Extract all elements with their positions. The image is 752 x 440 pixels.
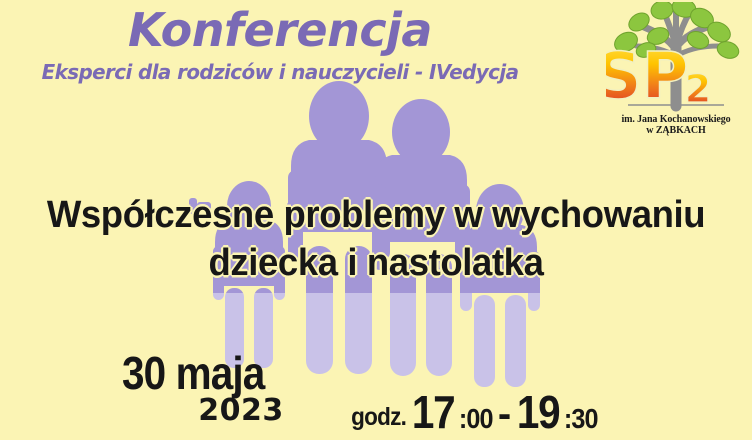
event-time-end-hour: 19 (517, 385, 559, 439)
event-date-year: 2023 (122, 394, 284, 426)
conference-poster: Konferencja Eksperci dla rodziców i nauc… (0, 0, 752, 440)
page-subtitle: Eksperci dla rodziców i nauczycieli - IV… (8, 54, 551, 84)
page-title: Konferencja (0, 0, 560, 54)
event-time-separator: - (495, 392, 514, 437)
school-logo-mark: SP 2 (606, 2, 746, 114)
school-logo: SP 2 im. Jana Kochanowskiego w ZĄBKACH (606, 2, 746, 144)
event-date: 30 maja 2023 (122, 352, 284, 426)
event-time-label: godz. (351, 403, 406, 432)
headline-line-1: Współczesne problemy w wychowaniu (15, 192, 737, 240)
event-time: godz.17:00-19:30 (348, 385, 600, 439)
logo-school-town: w ZĄBKACH (606, 125, 746, 136)
event-date-day-month: 30 maja (122, 352, 264, 394)
heading-block: Konferencja Eksperci dla rodziców i nauc… (0, 0, 560, 84)
main-headline: Współczesne problemy w wychowaniu dzieck… (0, 192, 752, 287)
logo-school-name: im. Jana Kochanowskiego (606, 114, 746, 125)
headline-line-2: dziecka i nastolatka (15, 240, 737, 288)
logo-monogram-sp: SP (606, 40, 689, 114)
event-time-start-hour: 17 (412, 385, 454, 439)
event-time-end-minutes: :30 (564, 403, 598, 435)
event-time-start-minutes: :00 (459, 403, 493, 435)
